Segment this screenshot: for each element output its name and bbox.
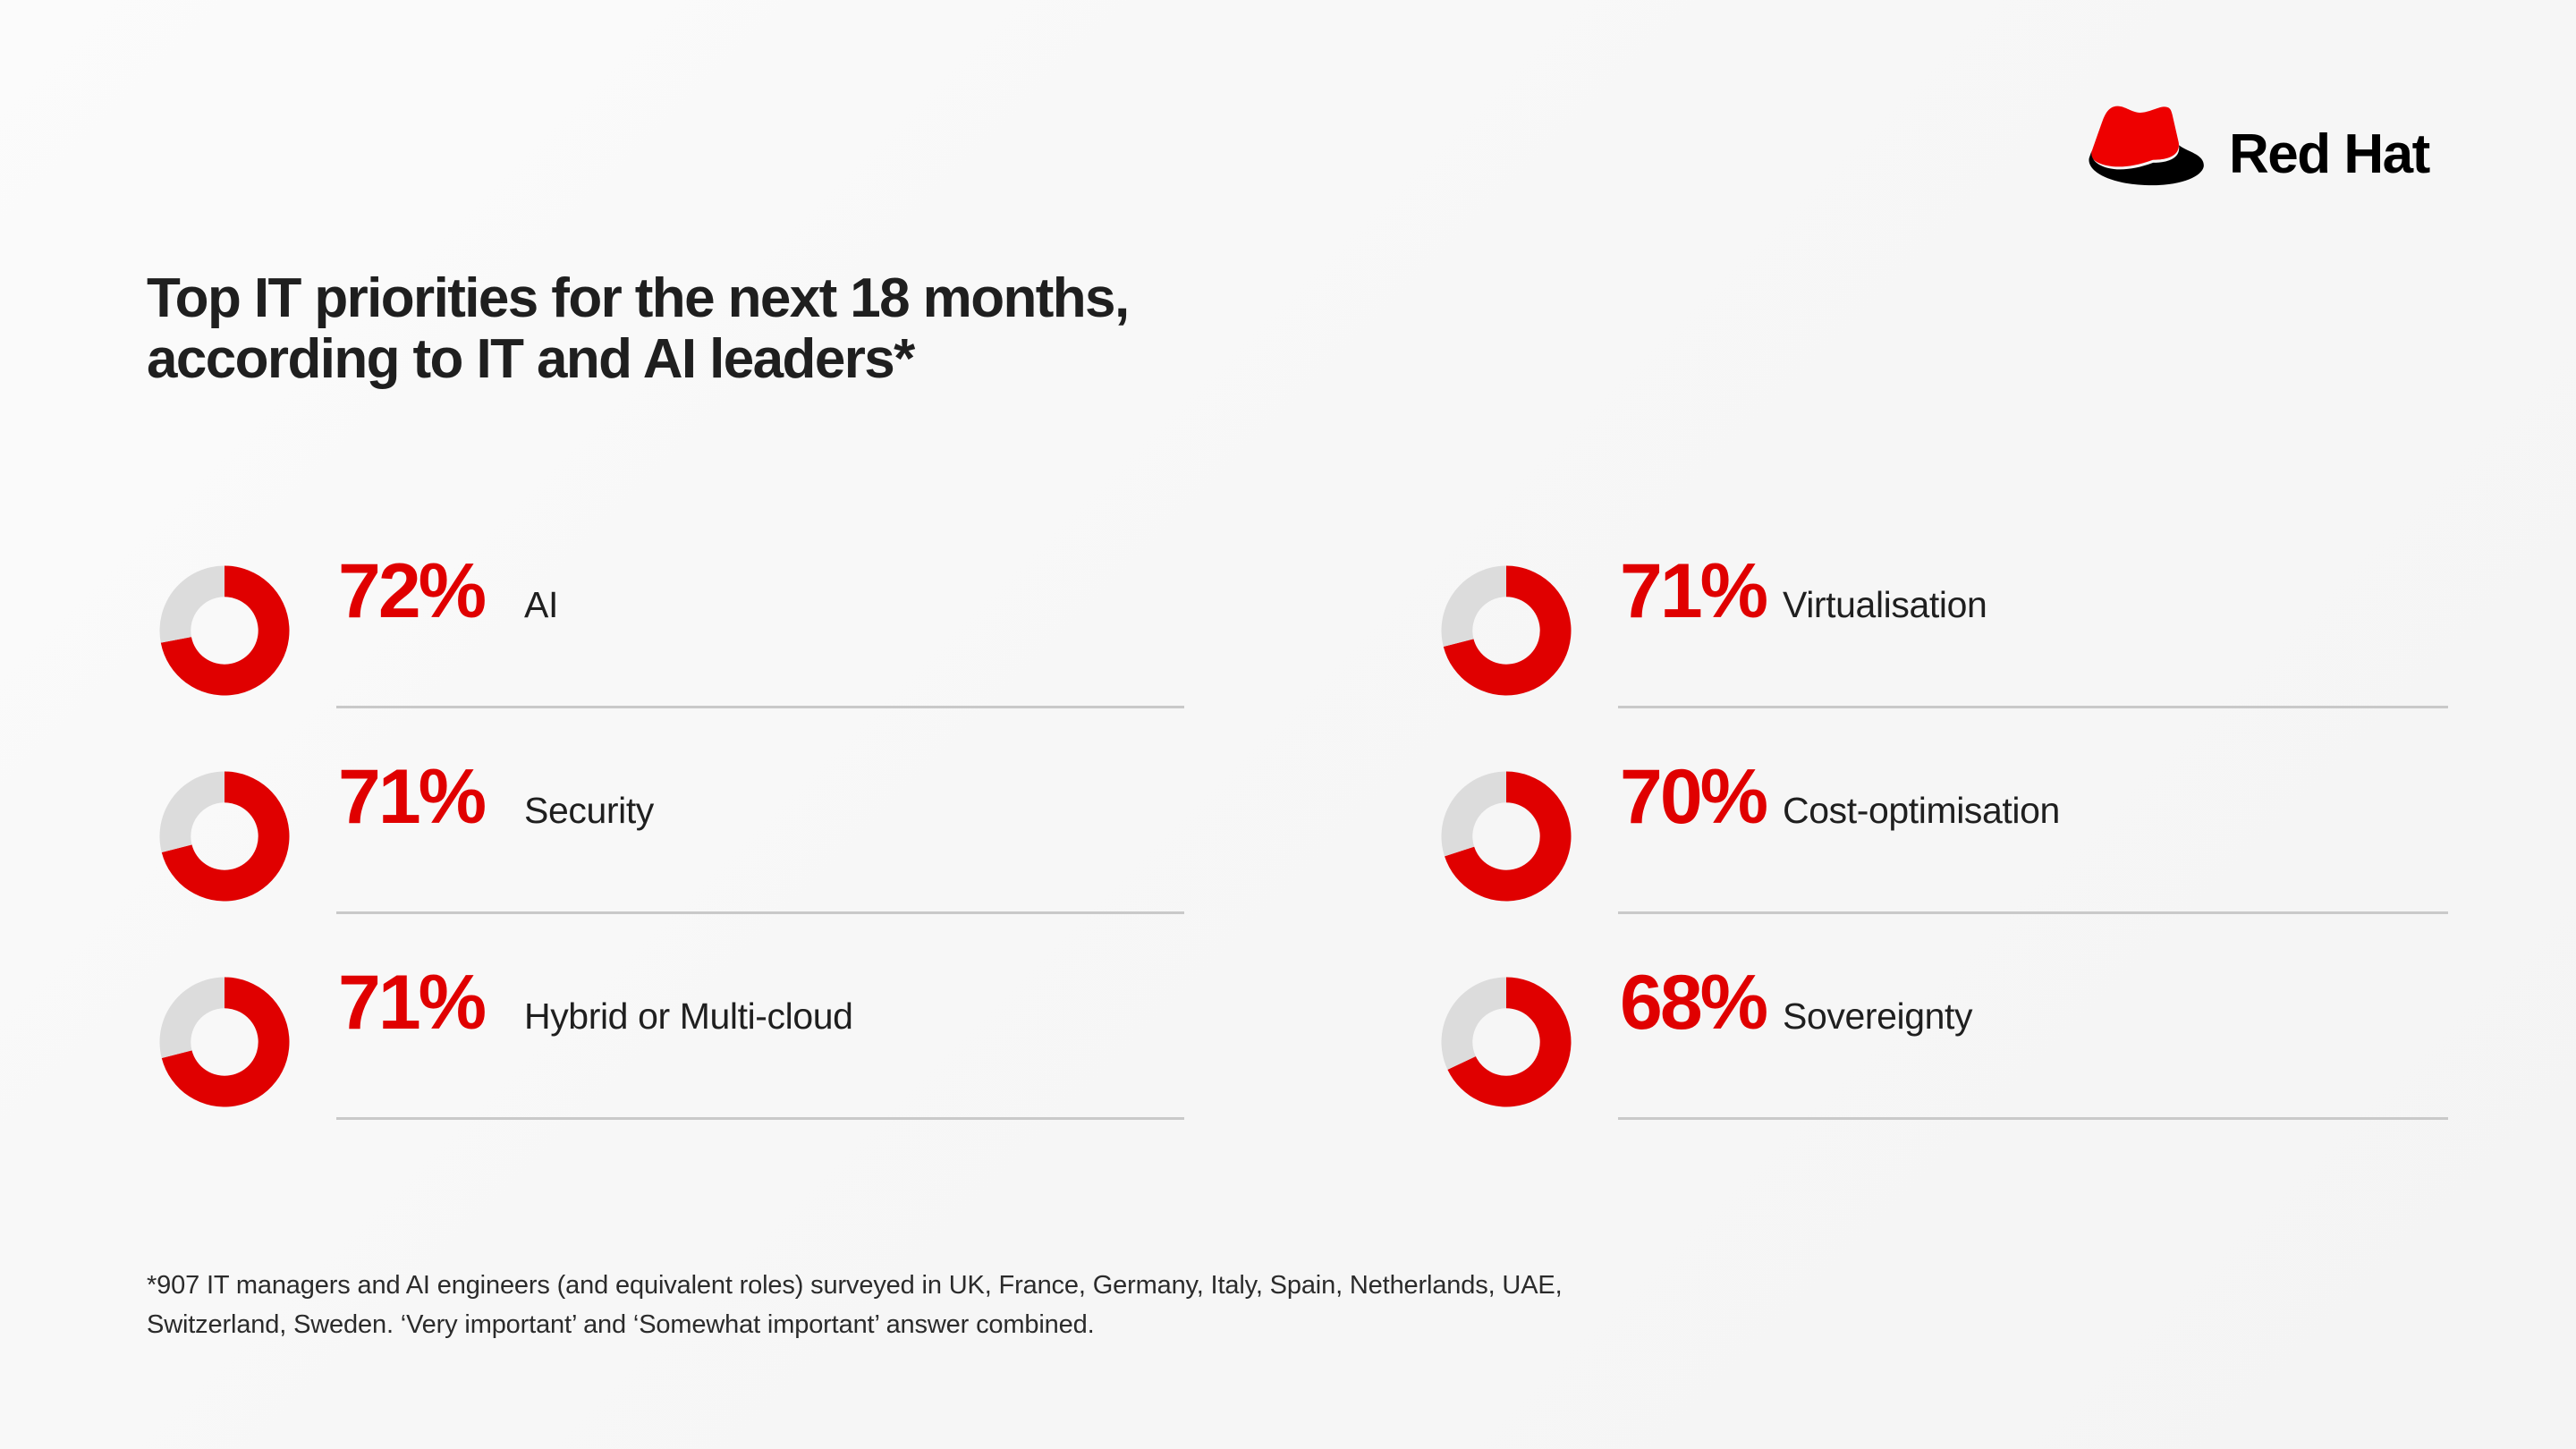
stat-percentage: 71% (1595, 553, 1783, 630)
stat-row: 71% Virtualisation (1428, 537, 2448, 742)
footnote: *907 IT managers and AI engineers (and e… (147, 1266, 1846, 1344)
stat-row: 71% Hybrid or Multi-cloud (147, 948, 1184, 1154)
stat-label: Sovereignty (1783, 998, 1972, 1035)
row-divider (1618, 706, 2448, 708)
stat-body: 71% Virtualisation (1595, 553, 2448, 708)
priorities-column-left: 72% AI 71% Security 71% Hybrid o (147, 537, 1184, 1154)
stat-row: 70% Cost-optimisation (1428, 742, 2448, 948)
footnote-line-1: *907 IT managers and AI engineers (and e… (147, 1266, 1846, 1305)
donut-chart-virtualisation (1428, 553, 1584, 708)
stat-row: 68% Sovereignty (1428, 948, 2448, 1154)
stat-body: 71% Hybrid or Multi-cloud (313, 964, 1184, 1120)
stat-row: 72% AI (147, 537, 1184, 742)
stat-label: Security (508, 792, 654, 829)
stat-body: 72% AI (313, 553, 1184, 708)
stat-label: Cost-optimisation (1783, 792, 2060, 829)
stat-percentage: 72% (313, 553, 508, 630)
stat-percentage: 71% (313, 758, 508, 835)
stat-label: Hybrid or Multi-cloud (508, 998, 853, 1035)
stat-body: 70% Cost-optimisation (1595, 758, 2448, 914)
donut-chart-cost-optimisation (1428, 758, 1584, 914)
stat-label: AI (508, 587, 558, 623)
stat-label: Virtualisation (1783, 587, 1987, 623)
row-divider (1618, 911, 2448, 914)
stat-percentage: 70% (1595, 758, 1783, 835)
donut-chart-sovereignty (1428, 964, 1584, 1120)
donut-chart-ai (147, 553, 302, 708)
stat-row: 71% Security (147, 742, 1184, 948)
row-divider (336, 1117, 1184, 1120)
red-hat-fedora-icon (2068, 106, 2204, 204)
stat-body: 68% Sovereignty (1595, 964, 2448, 1120)
page-title: Top IT priorities for the next 18 months… (147, 268, 1757, 390)
stat-percentage: 71% (313, 964, 508, 1041)
donut-chart-hybrid-multi-cloud (147, 964, 302, 1120)
page-title-line-1: Top IT priorities for the next 18 months… (147, 268, 1757, 329)
stat-percentage: 68% (1595, 964, 1783, 1041)
red-hat-wordmark: Red Hat (2229, 127, 2429, 182)
footnote-line-2: Switzerland, Sweden. ‘Very important’ an… (147, 1305, 1846, 1344)
stat-body: 71% Security (313, 758, 1184, 914)
row-divider (336, 911, 1184, 914)
page-title-line-2: according to IT and AI leaders* (147, 329, 1757, 390)
red-hat-logo: Red Hat (2068, 106, 2444, 204)
priorities-column-right: 71% Virtualisation 70% Cost-optimisation… (1428, 537, 2448, 1154)
row-divider (336, 706, 1184, 708)
donut-chart-security (147, 758, 302, 914)
row-divider (1618, 1117, 2448, 1120)
